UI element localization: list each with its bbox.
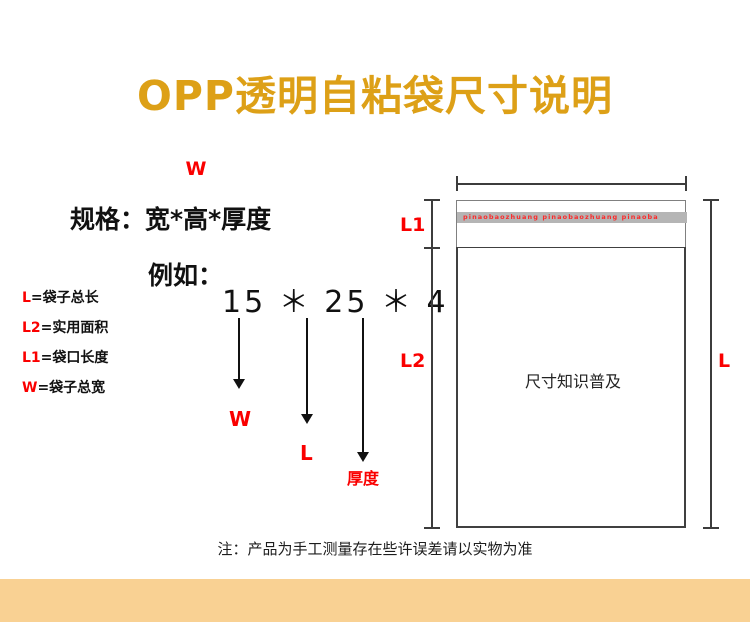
bag-seal-strip: pinaobaozhuang pinaobaozhuang pinaoba xyxy=(457,212,687,223)
example-formula: 15 ＊ 25 ＊ 4 xyxy=(222,277,449,321)
arrow-label-thickness: 厚度 xyxy=(347,465,379,489)
arrow-down-thickness-icon xyxy=(362,318,364,453)
list-item: L1=袋口长度 xyxy=(22,343,172,373)
bag-body-caption: 尺寸知识普及 xyxy=(458,368,688,392)
legend-desc-l1: =袋口长度 xyxy=(41,350,109,366)
dimension-cap-width-right xyxy=(685,176,687,191)
list-item: W=袋子总宽 xyxy=(22,373,172,403)
legend-desc-l: =袋子总长 xyxy=(31,290,99,306)
spec-format-line: 规格：宽*高*厚度 xyxy=(70,200,271,236)
legend-desc-l2: =实用面积 xyxy=(41,320,109,336)
legend-key-l: L xyxy=(22,290,31,306)
bag-flap: pinaobaozhuang pinaobaozhuang pinaoba xyxy=(456,200,686,248)
legend-key-l2: L2 xyxy=(22,320,41,336)
arrow-down-width-icon xyxy=(238,318,240,380)
arrow-label-width: W xyxy=(229,407,251,431)
bag-diagram: pinaobaozhuang pinaobaozhuang pinaoba 尺寸… xyxy=(456,200,686,528)
bottom-color-band xyxy=(0,579,750,622)
dimension-line-l1 xyxy=(431,200,433,248)
list-item: L2=实用面积 xyxy=(22,313,172,343)
legend-key-w: W xyxy=(22,380,37,396)
dimension-label-width: W xyxy=(0,158,750,180)
arrow-down-length-icon xyxy=(306,318,308,415)
legend-list: L=袋子总长 L2=实用面积 L1=袋口长度 W=袋子总宽 xyxy=(22,283,172,403)
dimension-line-width xyxy=(456,183,687,185)
dimension-line-l xyxy=(710,200,712,528)
dimension-cap-l2-bottom xyxy=(424,527,440,529)
dimension-label-l2: L2 xyxy=(400,350,425,372)
dimension-label-l1: L1 xyxy=(400,214,425,236)
dimension-label-l: L xyxy=(718,350,730,372)
legend-key-l1: L1 xyxy=(22,350,41,366)
seal-watermark-text: pinaobaozhuang pinaobaozhuang pinaoba xyxy=(463,212,659,223)
arrow-label-length: L xyxy=(300,441,313,465)
footer-note: 注：产品为手工测量存在些许误差请以实物为准 xyxy=(0,538,750,559)
page-title: OPP透明自粘袋尺寸说明 xyxy=(0,62,750,122)
list-item: L=袋子总长 xyxy=(22,283,172,313)
dimension-line-l2 xyxy=(431,248,433,528)
legend-desc-w: =袋子总宽 xyxy=(37,380,105,396)
infographic-page: OPP透明自粘袋尺寸说明 规格：宽*高*厚度 例如： L=袋子总长 L2=实用面… xyxy=(0,0,750,622)
bag-body: 尺寸知识普及 xyxy=(456,247,686,528)
dimension-cap-l-bottom xyxy=(703,527,719,529)
